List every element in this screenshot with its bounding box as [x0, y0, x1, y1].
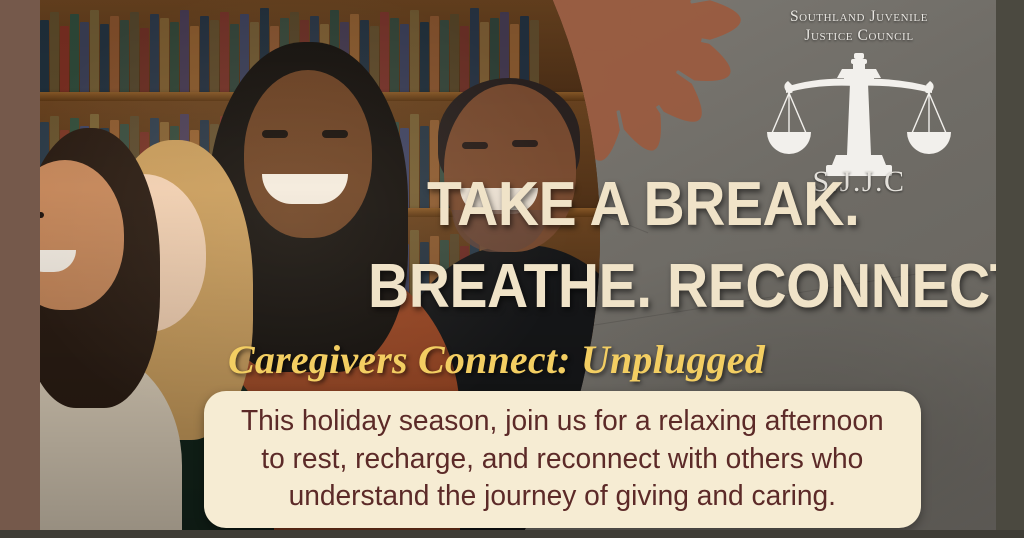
- description-card: This holiday season, join us for a relax…: [204, 391, 921, 528]
- bottom-border-frame: [0, 530, 1024, 538]
- left-border-frame: [0, 0, 40, 538]
- headline-line-2: BREATHE. RECONNECT.: [368, 258, 1024, 317]
- right-border-frame: [996, 0, 1024, 538]
- organization-name: Southland Juvenile Justice Council: [754, 8, 964, 46]
- flyer-canvas: Southland Juvenile Justice Council: [0, 0, 1024, 538]
- headline-line-1: TAKE A BREAK.: [427, 176, 859, 235]
- event-subtitle: Caregivers Connect: Unplugged: [228, 336, 765, 383]
- description-text: This holiday season, join us for a relax…: [241, 403, 884, 516]
